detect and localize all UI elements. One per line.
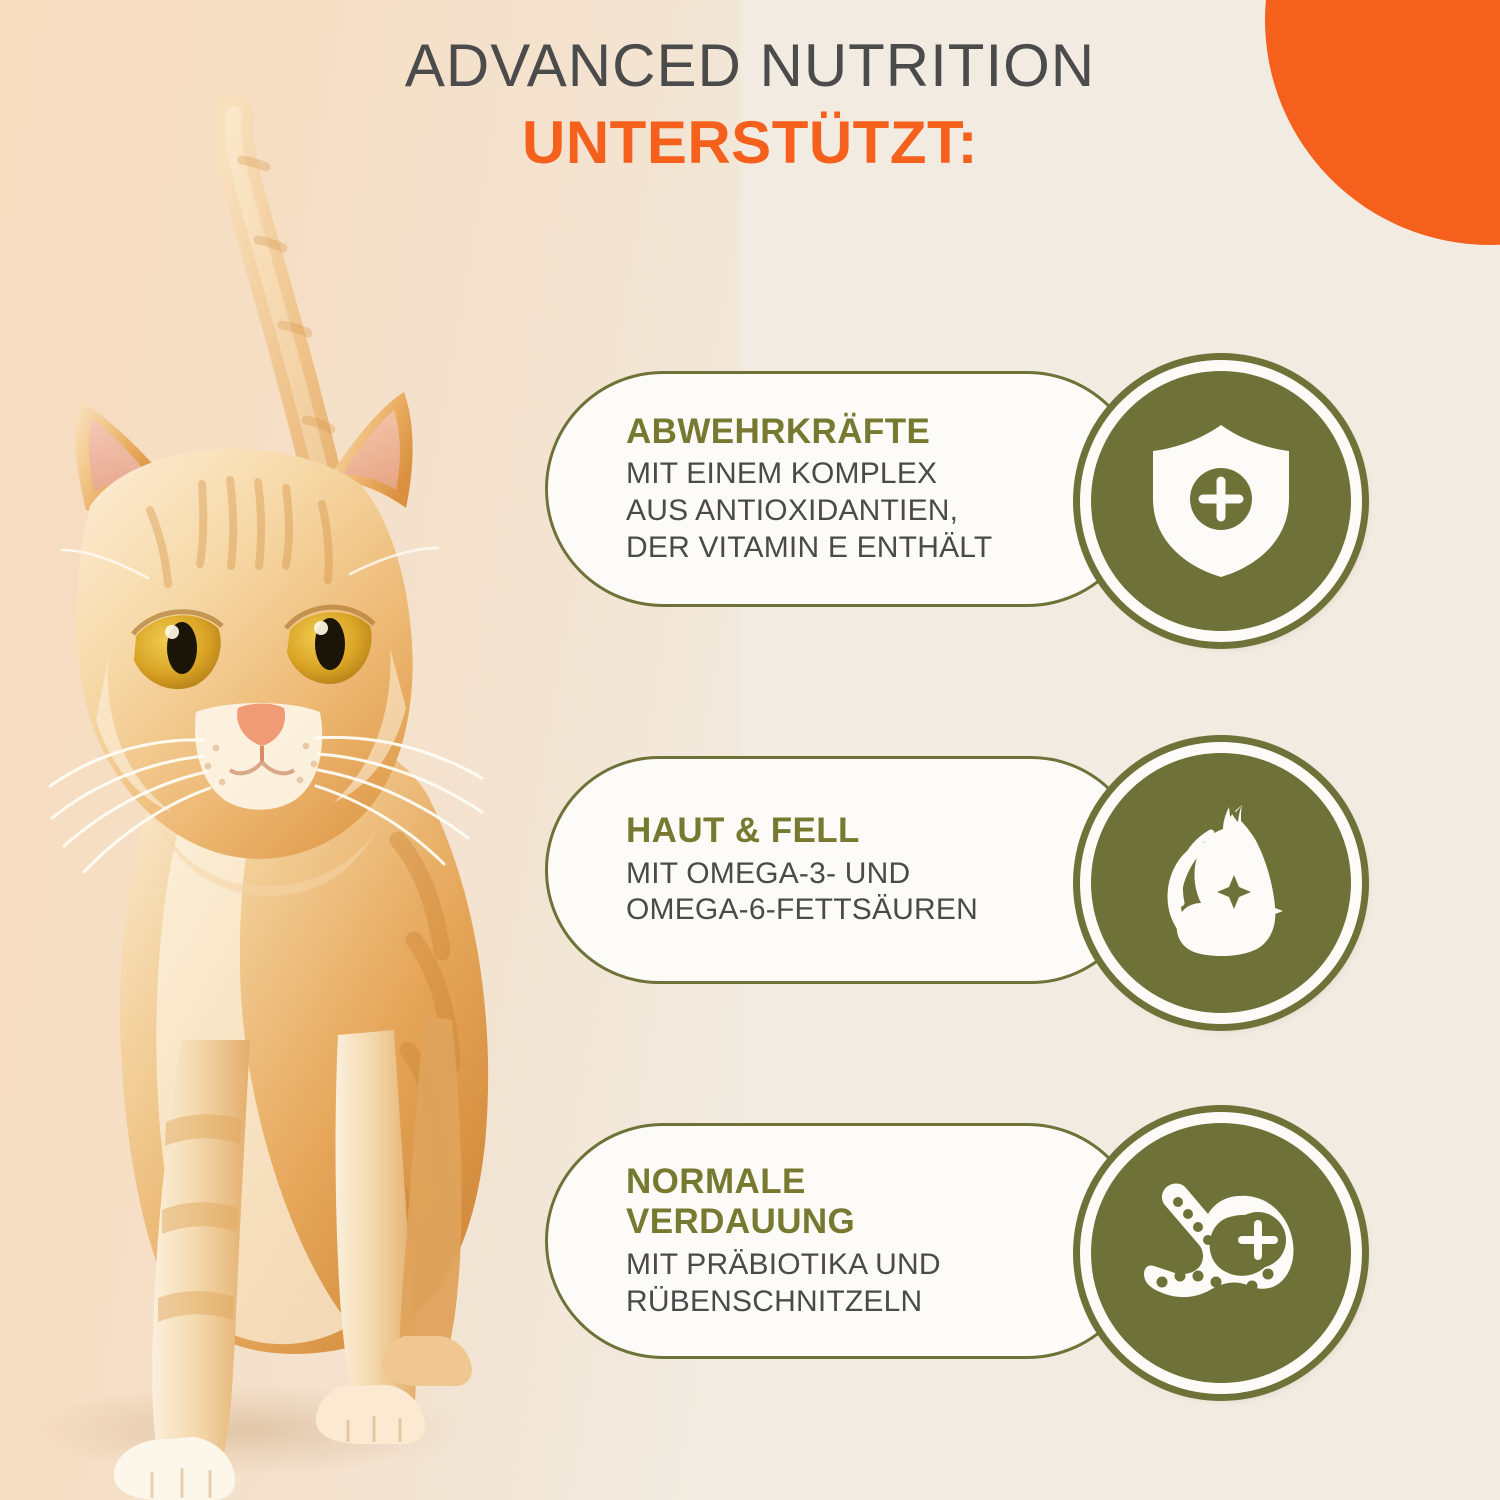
feature-row-skin-coat: HAUT & FELL MIT OMEGA-3- UND OMEGA-6-FET… [545,742,1365,1000]
feature-title-immunity: ABWEHRKRÄFTE [626,412,1102,453]
feature-body-immunity: MIT EINEM KOMPLEX AUS ANTIOXIDANTIEN, DE… [626,456,1102,566]
feature-card-digestion[interactable]: NORMALE VERDAUUNG MIT PRÄBIOTIKA UND RÜB… [545,1123,1145,1359]
feature-title-skin-coat: HAUT & FELL [626,811,1102,852]
feature-row-immunity: ABWEHRKRÄFTE MIT EINEM KOMPLEX AUS ANTIO… [545,360,1365,618]
feature-row-digestion: NORMALE VERDAUUNG MIT PRÄBIOTIKA UND RÜB… [545,1112,1365,1370]
stomach-plus-icon [1138,1170,1304,1336]
feature-card-immunity[interactable]: ABWEHRKRÄFTE MIT EINEM KOMPLEX AUS ANTIO… [545,371,1145,607]
feature-badge-digestion [1080,1112,1362,1394]
feature-body-digestion: MIT PRÄBIOTIKA UND RÜBENSCHNITZELN [626,1247,1102,1320]
feature-body-skin-coat: MIT OMEGA-3- UND OMEGA-6-FETTSÄUREN [626,856,1102,929]
feature-list: ABWEHRKRÄFTE MIT EINEM KOMPLEX AUS ANTIO… [0,0,1500,1500]
headline-primary: ADVANCED NUTRITION [0,34,1500,99]
poster-canvas: ADVANCED NUTRITION UNTERSTÜTZT: [0,0,1500,1500]
poster-header: ADVANCED NUTRITION UNTERSTÜTZT: [0,34,1500,176]
feature-title-digestion: NORMALE VERDAUUNG [626,1162,1102,1243]
feature-card-skin-coat[interactable]: HAUT & FELL MIT OMEGA-3- UND OMEGA-6-FET… [545,756,1145,984]
cat-sparkle-icon [1137,799,1305,967]
headline-secondary: UNTERSTÜTZT: [0,109,1500,176]
feature-badge-immunity [1080,360,1362,642]
shield-plus-icon [1145,421,1297,581]
feature-badge-skin-coat [1080,742,1362,1024]
